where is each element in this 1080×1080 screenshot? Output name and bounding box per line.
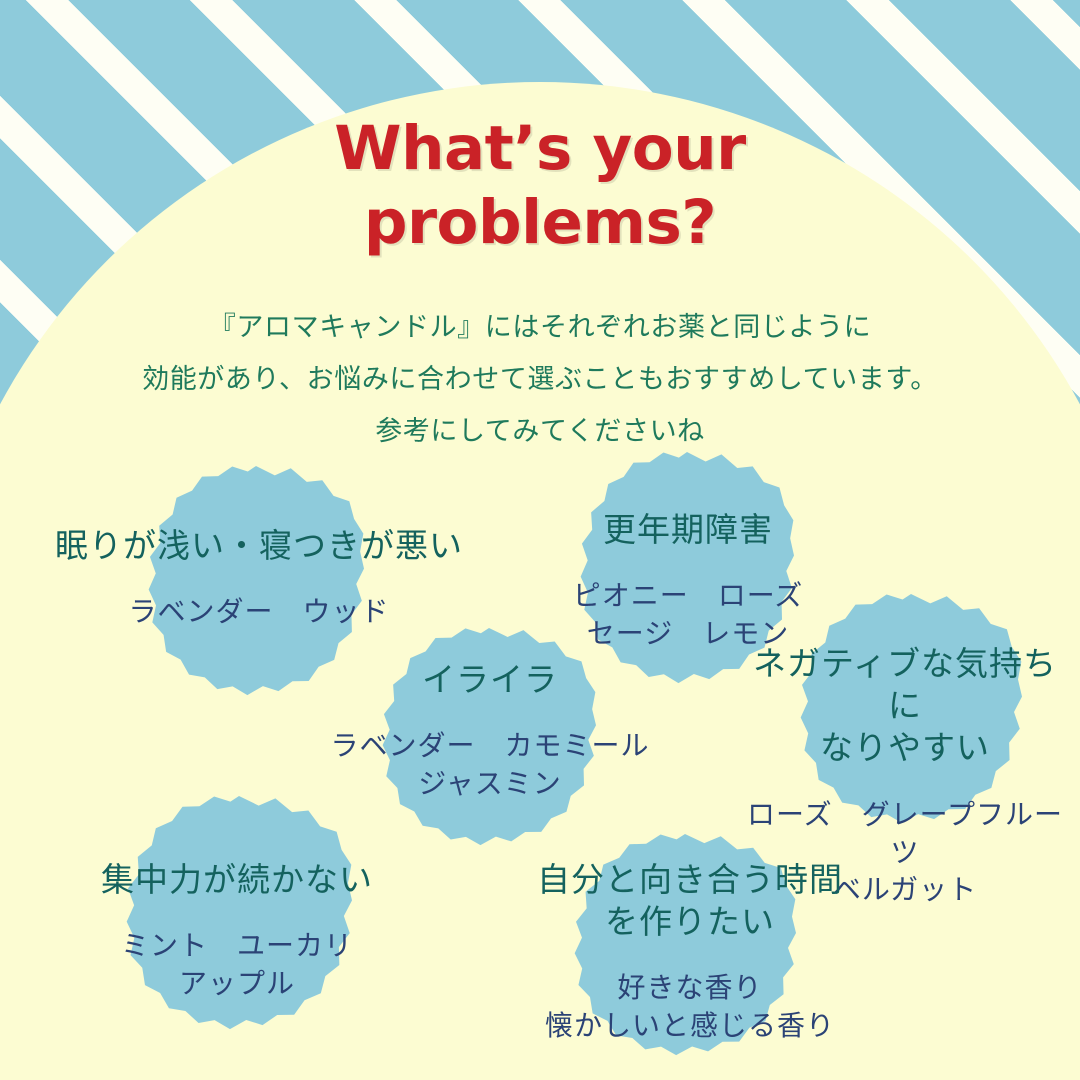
bubble-items-selftime: 好きな香り 懐かしいと感じる香り	[520, 969, 860, 1045]
bubble-irritation: イライラ ラベンダー カモミール ジャスミン	[310, 640, 670, 822]
bubble-heading-focus: 集中力が続かない	[62, 859, 412, 901]
bubble-items-irritation: ラベンダー カモミール ジャスミン	[310, 727, 670, 803]
bubble-sleep: 眠りが浅い・寝つきが悪い ラベンダー ウッド	[18, 506, 500, 650]
bubble-items-sleep: ラベンダー ウッド	[18, 593, 500, 631]
bubble-selftime: 自分と向き合う時間 を作りたい 好きな香り 懐かしいと感じる香り	[520, 840, 860, 1064]
poster-canvas: What’s your problems? 『アロマキャンドル』にはそれぞれお薬…	[0, 0, 1080, 1080]
bubble-focus: 集中力が続かない ミント ユーカリ アップル	[62, 840, 412, 1022]
bubble-heading-sleep: 眠りが浅い・寝つきが悪い	[18, 525, 500, 567]
subtitle-paragraph: 『アロマキャンドル』にはそれぞれお薬と同じように 効能があり、お悩みに合わせて選…	[0, 302, 1080, 457]
bubble-items-focus: ミント ユーカリ アップル	[62, 927, 412, 1003]
bubble-heading-irritation: イライラ	[310, 659, 670, 701]
header: What’s your problems?	[0, 112, 1080, 261]
page-title: What’s your problems?	[0, 112, 1080, 261]
bubble-heading-selftime: 自分と向き合う時間 を作りたい	[520, 859, 860, 943]
bubble-heading-menopause: 更年期障害	[558, 509, 818, 551]
bubble-heading-negative: ネガティブな気持ちに なりやすい	[740, 643, 1070, 770]
